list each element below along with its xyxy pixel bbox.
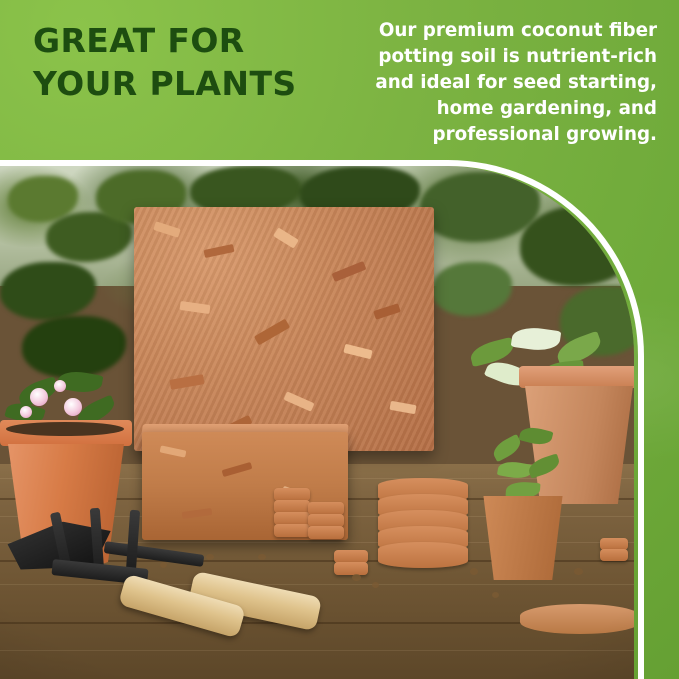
table-grain-line — [0, 650, 634, 651]
coir-pellet — [274, 524, 310, 537]
photo-scene — [0, 166, 634, 679]
headline: GREAT FOR YOUR PLANTS — [33, 20, 333, 106]
pink-flower — [54, 380, 66, 392]
pot-body — [525, 386, 633, 504]
coir-fiber-fleck — [180, 301, 211, 314]
terracotta-saucer — [520, 604, 634, 634]
pot-soil — [6, 422, 124, 436]
soil-crumb — [352, 574, 361, 581]
pink-flower — [30, 388, 48, 406]
coir-fiber-fleck — [169, 374, 204, 390]
product-banner: GREAT FOR YOUR PLANTS Our premium coconu… — [0, 0, 679, 679]
coir-fiber-fleck — [332, 261, 367, 282]
coir-fiber-fleck — [283, 391, 314, 411]
coir-fiber-fleck — [182, 508, 213, 519]
coir-fiber-fleck — [273, 227, 299, 248]
subcopy-text: Our premium coconut fiber potting soil i… — [347, 18, 657, 148]
coir-brick-large — [134, 207, 434, 451]
soil-crumb — [372, 582, 379, 588]
soil-crumb — [574, 568, 583, 575]
coir-fiber-fleck — [153, 221, 181, 238]
coir-fiber-fleck — [203, 244, 234, 258]
background-leaf — [520, 206, 634, 286]
coir-fiber-fleck — [389, 401, 416, 414]
coir-fiber-fleck — [254, 319, 290, 346]
soil-crumb — [492, 592, 499, 598]
coir-fiber-fleck — [343, 344, 372, 360]
pot-rim — [519, 366, 634, 388]
soil-crumb — [160, 562, 167, 568]
coir-fiber-fleck — [160, 445, 187, 457]
coir-pellet — [600, 549, 628, 561]
coir-fiber-fleck — [222, 462, 253, 477]
coir-pellet — [308, 526, 344, 539]
pink-flower — [64, 398, 82, 416]
soil-crumb — [470, 568, 478, 575]
headline-line-1: GREAT FOR — [33, 21, 245, 60]
coir-pellet — [334, 562, 368, 575]
product-photo — [0, 166, 634, 679]
table-grain-line — [0, 584, 634, 585]
headline-line-2: YOUR PLANTS — [33, 63, 333, 106]
coir-fiber-fleck — [373, 303, 401, 320]
coir-fiber-pot — [480, 496, 566, 580]
soil-crumb — [258, 554, 266, 560]
soil-crumb — [206, 554, 214, 560]
coir-disc — [378, 542, 468, 568]
pink-flower — [20, 406, 32, 418]
